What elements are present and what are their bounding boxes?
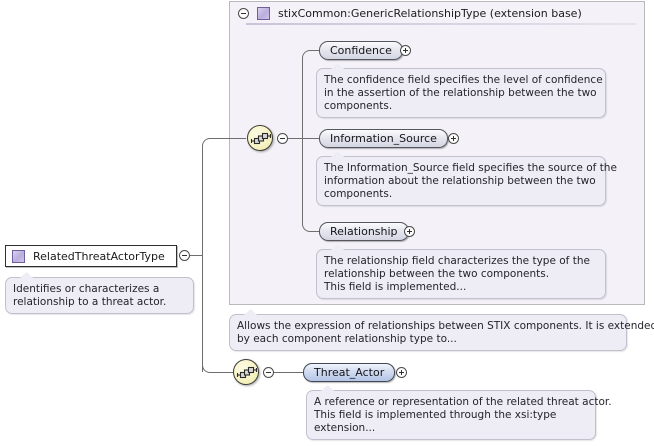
doc-line: relationship to a threat actor.: [13, 296, 186, 309]
schema-diagram-canvas: stixCommon:GenericRelationshipType (exte…: [0, 0, 654, 446]
doc-line: A reference or representation of the rel…: [314, 396, 588, 409]
doc-line: extension...: [314, 422, 588, 435]
element-relationship[interactable]: Relationship: [319, 222, 409, 241]
tooltip-pointer: [244, 309, 257, 315]
element-relationship-expand-toggle[interactable]: [404, 226, 415, 237]
connector-to-confidence: [311, 50, 319, 51]
element-label: Relationship: [330, 225, 398, 238]
extension-base-header: stixCommon:GenericRelationshipType (exte…: [230, 2, 644, 24]
sequence-glyph-icon: [250, 128, 272, 150]
root-type-node[interactable]: RelatedThreatActorType: [5, 245, 177, 267]
doc-line: relationship between the two components.: [324, 268, 598, 281]
connector-seq1-spine-lower: [302, 138, 303, 222]
type-square-icon: [12, 250, 25, 263]
element-confidence-expand-toggle[interactable]: [400, 45, 411, 56]
element-confidence-documentation: The confidence field specifies the level…: [316, 68, 606, 118]
connector-spine-lower: [202, 255, 203, 372]
element-label: Confidence: [330, 44, 392, 57]
tooltip-pointer: [321, 385, 334, 391]
doc-line: components.: [324, 188, 598, 201]
doc-line: The confidence field specifies the level…: [324, 74, 598, 87]
doc-line: in the assertion of the relationship bet…: [324, 87, 598, 100]
element-label: Information_Source: [330, 132, 437, 145]
connector-root-stub: [190, 255, 202, 256]
element-information-source-documentation: The Information_Source field specifies t…: [316, 156, 606, 206]
doc-line: This field is implemented through the xs…: [314, 409, 588, 422]
root-collapse-toggle-wrap: [179, 250, 190, 261]
connector-to-threat-actor: [274, 372, 304, 373]
sequence-2-collapse-toggle[interactable]: [263, 367, 274, 378]
connector-elbow-top: [202, 138, 212, 148]
sequence-compositor-icon[interactable]: [247, 125, 273, 151]
doc-line: Allows the expression of relationships b…: [237, 320, 619, 333]
tooltip-pointer: [20, 272, 33, 278]
connector-spine-upper: [202, 146, 203, 256]
extension-base-title: stixCommon:GenericRelationshipType (exte…: [278, 7, 582, 20]
doc-line: The Information_Source field specifies t…: [324, 162, 598, 175]
root-type-label: RelatedThreatActorType: [33, 250, 165, 263]
type-square-icon: [257, 7, 270, 20]
doc-line: components.: [324, 100, 598, 113]
element-information-source-expand-toggle[interactable]: [448, 133, 459, 144]
doc-line: information about the relationship betwe…: [324, 175, 598, 188]
sequence-glyph-icon: [236, 362, 258, 384]
connector-seq1-spine-upper: [302, 58, 303, 138]
root-documentation: Identifies or characterizes a relationsh…: [5, 277, 194, 314]
sequence-compositor-icon[interactable]: [233, 359, 259, 385]
root-collapse-toggle[interactable]: [179, 250, 190, 261]
element-relationship-documentation: The relationship field characterizes the…: [316, 249, 606, 299]
connector-to-information-source: [303, 138, 319, 139]
doc-line: by each component relationship type to..…: [237, 333, 619, 346]
doc-line: This field is implemented...: [324, 281, 598, 294]
connector-to-sequence-1: [211, 138, 246, 139]
sequence-1-collapse-toggle[interactable]: [277, 133, 288, 144]
doc-line: The relationship field characterizes the…: [324, 255, 598, 268]
element-confidence[interactable]: Confidence: [319, 41, 403, 60]
element-threat-actor-documentation: A reference or representation of the rel…: [306, 390, 596, 440]
connector-to-relationship: [311, 231, 319, 232]
extension-base-collapse-toggle[interactable]: [238, 8, 249, 19]
element-information-source[interactable]: Information_Source: [319, 129, 448, 148]
element-threat-actor[interactable]: Threat_Actor: [303, 363, 395, 382]
doc-line: Identifies or characterizes a: [13, 283, 186, 296]
connector-seq1-stub: [288, 138, 302, 139]
element-label: Threat_Actor: [314, 366, 384, 379]
connector-elbow-confidence: [302, 50, 312, 60]
extension-base-documentation: Allows the expression of relationships b…: [229, 314, 627, 351]
element-threat-actor-expand-toggle[interactable]: [396, 367, 407, 378]
